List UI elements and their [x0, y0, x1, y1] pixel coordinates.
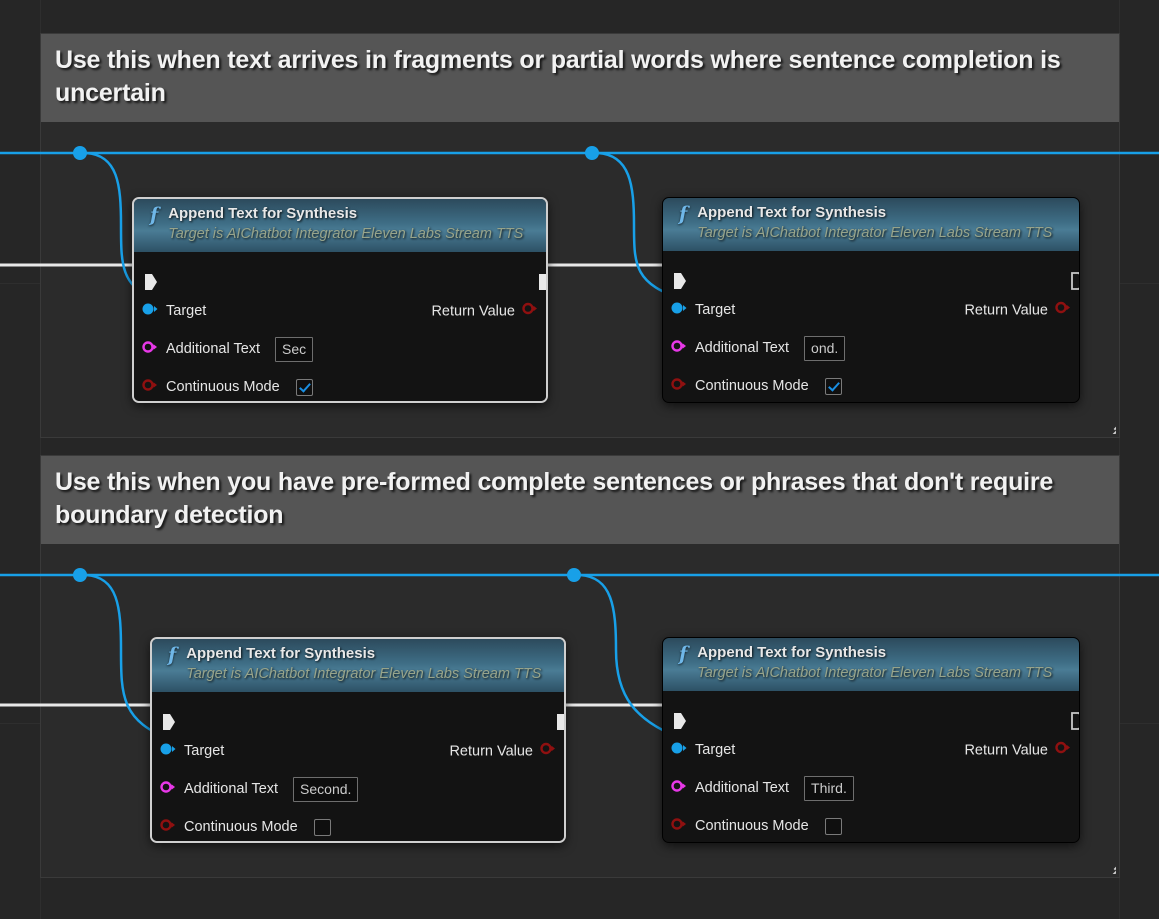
node-append-text-2[interactable]: f Append Text for Synthesis Target is AI…: [662, 197, 1080, 403]
pin-label-return-value: Return Value: [449, 743, 533, 759]
pin-label-return-value: Return Value: [431, 303, 515, 319]
pin-label-target: Target: [166, 303, 206, 319]
continuous-mode-checkbox[interactable]: [314, 819, 331, 836]
pin-row-target: Target Return Value: [663, 291, 1079, 329]
pin-label-target: Target: [184, 743, 224, 759]
node-subtitle: Target is AIChatbot Integrator Eleven La…: [186, 665, 541, 685]
pin-row-target: Target Return Value: [152, 732, 564, 770]
object-pin-icon[interactable]: [671, 301, 687, 320]
pin-label-target: Target: [695, 302, 735, 318]
exec-row: [134, 252, 546, 292]
additional-text-input[interactable]: ond.: [804, 336, 845, 361]
node-title: Append Text for Synthesis: [186, 645, 541, 664]
exec-row: [663, 251, 1079, 291]
pin-row-target: Target Return Value: [663, 731, 1079, 769]
pin-row-continuous-mode: Continuous Mode: [663, 807, 1079, 843]
node-title: Append Text for Synthesis: [697, 204, 1052, 223]
pin-row-additional-text: Additional Text Third.: [663, 769, 1079, 807]
node-body: Target Return Value Additional Text Thir…: [663, 691, 1079, 843]
node-header: f Append Text for Synthesis Target is AI…: [663, 198, 1079, 251]
bool-pin-icon[interactable]: [142, 378, 158, 397]
function-f-icon: f: [679, 205, 687, 224]
continuous-mode-checkbox[interactable]: [296, 379, 313, 396]
node-append-text-1[interactable]: f Append Text for Synthesis Target is AI…: [132, 197, 548, 403]
pin-row-additional-text: Additional Text Sec: [134, 330, 546, 368]
string-pin-icon[interactable]: [671, 779, 687, 798]
bool-pin-icon[interactable]: [671, 817, 687, 836]
function-f-icon: f: [168, 646, 176, 665]
exec-row: [663, 691, 1079, 731]
bool-pin-icon[interactable]: [671, 377, 687, 396]
exec-row: [152, 692, 564, 732]
node-header: f Append Text for Synthesis Target is AI…: [152, 639, 564, 692]
function-f-icon: f: [150, 206, 158, 225]
pin-row-target: Target Return Value: [134, 292, 546, 330]
pin-row-additional-text: Additional Text ond.: [663, 329, 1079, 367]
node-body: Target Return Value Additional Text Seco…: [152, 692, 564, 843]
string-pin-icon[interactable]: [671, 339, 687, 358]
additional-text-input[interactable]: Second.: [293, 777, 358, 802]
node-subtitle: Target is AIChatbot Integrator Eleven La…: [697, 664, 1052, 684]
continuous-mode-checkbox[interactable]: [825, 818, 842, 835]
resize-handle[interactable]: [1100, 858, 1116, 874]
comment-title: Use this when you have pre-formed comple…: [41, 456, 1119, 544]
node-header: f Append Text for Synthesis Target is AI…: [134, 199, 546, 252]
comment-title: Use this when text arrives in fragments …: [41, 34, 1119, 122]
object-pin-icon[interactable]: [671, 741, 687, 760]
object-pin-icon[interactable]: [142, 302, 158, 321]
pin-label-additional-text: Additional Text: [166, 341, 260, 357]
additional-text-input[interactable]: Third.: [804, 776, 854, 801]
node-header: f Append Text for Synthesis Target is AI…: [663, 638, 1079, 691]
node-body: Target Return Value Additional Text ond.: [663, 251, 1079, 403]
resize-handle[interactable]: [1100, 418, 1116, 434]
continuous-mode-checkbox[interactable]: [825, 378, 842, 395]
pin-row-continuous-mode: Continuous Mode: [152, 808, 564, 843]
pin-label-return-value: Return Value: [964, 742, 1048, 758]
node-title: Append Text for Synthesis: [697, 644, 1052, 663]
pin-label-additional-text: Additional Text: [695, 340, 789, 356]
string-pin-icon[interactable]: [160, 780, 176, 799]
pin-label-additional-text: Additional Text: [184, 781, 278, 797]
function-f-icon: f: [679, 645, 687, 664]
bool-pin-icon[interactable]: [160, 818, 176, 837]
pin-row-continuous-mode: Continuous Mode: [134, 368, 546, 403]
node-append-text-3[interactable]: f Append Text for Synthesis Target is AI…: [150, 637, 566, 843]
pin-row-continuous-mode: Continuous Mode: [663, 367, 1079, 403]
bool-pin-icon[interactable]: [522, 302, 538, 321]
string-pin-icon[interactable]: [142, 340, 158, 359]
node-subtitle: Target is AIChatbot Integrator Eleven La…: [697, 224, 1052, 244]
pin-label-continuous-mode: Continuous Mode: [695, 378, 809, 394]
bool-pin-icon[interactable]: [1055, 301, 1071, 320]
pin-label-continuous-mode: Continuous Mode: [184, 819, 298, 835]
blueprint-canvas[interactable]: Use this when text arrives in fragments …: [0, 0, 1159, 919]
additional-text-input[interactable]: Sec: [275, 337, 313, 362]
object-pin-icon[interactable]: [160, 742, 176, 761]
pin-label-target: Target: [695, 742, 735, 758]
pin-label-return-value: Return Value: [964, 302, 1048, 318]
pin-label-additional-text: Additional Text: [695, 780, 789, 796]
node-subtitle: Target is AIChatbot Integrator Eleven La…: [168, 225, 523, 245]
node-append-text-4[interactable]: f Append Text for Synthesis Target is AI…: [662, 637, 1080, 843]
bool-pin-icon[interactable]: [1055, 741, 1071, 760]
node-body: Target Return Value Additional Text Sec: [134, 252, 546, 403]
pin-label-continuous-mode: Continuous Mode: [166, 379, 280, 395]
node-title: Append Text for Synthesis: [168, 205, 523, 224]
pin-label-continuous-mode: Continuous Mode: [695, 818, 809, 834]
bool-pin-icon[interactable]: [540, 742, 556, 761]
pin-row-additional-text: Additional Text Second.: [152, 770, 564, 808]
